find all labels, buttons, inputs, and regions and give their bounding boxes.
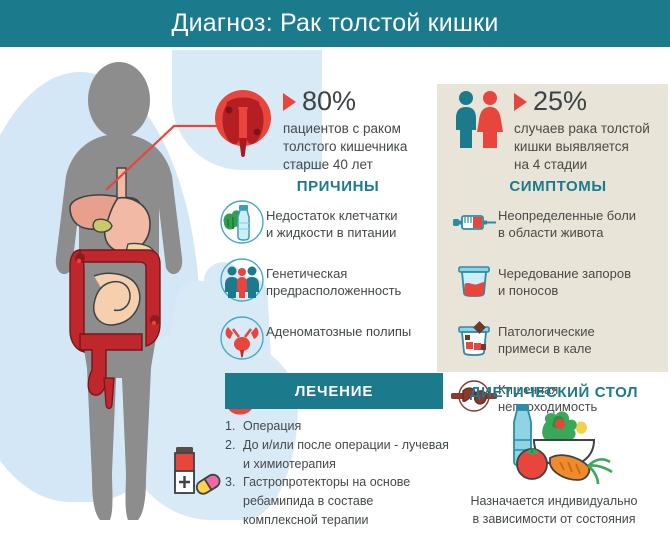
stat-line: старше 40 лет xyxy=(283,156,407,174)
cause-item-3: Аденоматозные полипы xyxy=(218,314,426,362)
label-line: примеси в кале xyxy=(498,340,595,357)
diet-note: Назначается индивидуально в зависимости … xyxy=(442,492,666,528)
page-title: Диагноз: Рак толстой кишки xyxy=(0,0,670,47)
healthy-food-basket-icon xyxy=(494,400,614,488)
stat-description-25: случаев рака толстой кишки выявляется на… xyxy=(514,120,650,174)
cause-item-2: Генетическая предрасположенность xyxy=(218,256,426,304)
symptom-label-2: Чередование запоров и поносов xyxy=(498,256,631,299)
label-line: Патологические xyxy=(498,323,595,340)
red-triangle-marker xyxy=(283,93,296,111)
item-number: 1. xyxy=(225,417,243,436)
item-line: и химиотерапия xyxy=(243,457,336,471)
label-line: Недостаток клетчатки xyxy=(266,207,398,224)
stat-value-25: 25% xyxy=(533,88,587,115)
header-bar: Диагноз: Рак толстой кишки xyxy=(0,0,670,47)
stat-value-80: 80% xyxy=(302,88,356,115)
label-line: Неопределенные боли xyxy=(498,207,636,224)
treatment-list: 1. Операция 2. До и/или после операции -… xyxy=(225,417,465,530)
medicine-bottle-pills-icon xyxy=(166,445,222,497)
family-genetics-icon xyxy=(218,256,266,304)
treatment-banner: ЛЕЧЕНИЕ xyxy=(225,373,443,409)
treatment-item-2: 2. До и/или после операции - лучевая и х… xyxy=(225,436,465,474)
cause-label-1: Недостаток клетчатки и жидкости в питани… xyxy=(266,198,398,241)
item-number: 3. xyxy=(225,473,243,529)
cause-item-1: Недостаток клетчатки и жидкости в питани… xyxy=(218,198,426,246)
symptom-item-2: Чередование запоров и поносов xyxy=(450,256,664,304)
stat-line: кишки выявляется xyxy=(514,138,650,156)
water-bottle-broccoli-icon xyxy=(218,198,266,246)
stat-description-80: пациентов с раком толстого кишечника ста… xyxy=(283,120,407,174)
note-line: в зависимости от состояния xyxy=(442,510,666,528)
diet-section-title: ДИЕТИЧЕСКИЙ СТОЛ xyxy=(443,384,665,401)
man-woman-icon xyxy=(452,88,506,155)
red-triangle-marker xyxy=(514,93,527,111)
symptoms-section-title: СИМПТОМЫ xyxy=(478,178,638,195)
beaker-solids-icon xyxy=(450,314,498,362)
note-line: Назначается индивидуально xyxy=(442,492,666,510)
label-line: Генетическая xyxy=(266,265,401,282)
symptom-item-3: Патологические примеси в кале xyxy=(450,314,664,362)
beaker-liquid-icon xyxy=(450,256,498,304)
stat-block-25: 25% случаев рака толстой кишки выявляетс… xyxy=(452,88,664,174)
label-line: и жидкости в питании xyxy=(266,224,398,241)
item-line: Гастропротекторы на основе xyxy=(243,475,410,489)
label-line: Аденоматозные полипы xyxy=(266,323,411,340)
symptom-label-3: Патологические примеси в кале xyxy=(498,314,595,357)
stat-block-80: 80% пациентов с раком толстого кишечника… xyxy=(211,88,426,174)
polyps-icon xyxy=(218,314,266,362)
stat-line: толстого кишечника xyxy=(283,138,407,156)
treatment-section-title: ЛЕЧЕНИЕ xyxy=(295,383,373,400)
label-line: и поносов xyxy=(498,282,631,299)
symptom-label-1: Неопределенные боли в области живота xyxy=(498,198,636,241)
item-line: ребамипида в составе xyxy=(243,494,373,508)
treatment-item-1: 1. Операция xyxy=(225,417,465,436)
symptom-item-1: Неопределенные боли в области живота xyxy=(450,198,664,246)
item-line: Операция xyxy=(243,419,301,433)
item-line: До и/или после операции - лучевая xyxy=(243,438,449,452)
item-line: комплексной терапии xyxy=(243,513,369,527)
causes-section-title: ПРИЧИНЫ xyxy=(263,178,413,195)
label-line: в области живота xyxy=(498,224,636,241)
cause-label-3: Аденоматозные полипы xyxy=(266,314,411,340)
treatment-item-3: 3. Гастропротекторы на основе ребамипида… xyxy=(225,473,465,529)
stat-line: на 4 стадии xyxy=(514,156,650,174)
label-line: Чередование запоров xyxy=(498,265,631,282)
label-line: предрасположенность xyxy=(266,282,401,299)
item-number: 2. xyxy=(225,436,243,474)
colon-icon xyxy=(211,88,275,165)
stat-line: пациентов с раком xyxy=(283,120,407,138)
cause-label-2: Генетическая предрасположенность xyxy=(266,256,401,299)
stat-line: случаев рака толстой xyxy=(514,120,650,138)
infographic-page: Диагноз: Рак толстой кишки xyxy=(0,0,670,536)
syringe-icon xyxy=(450,198,498,246)
